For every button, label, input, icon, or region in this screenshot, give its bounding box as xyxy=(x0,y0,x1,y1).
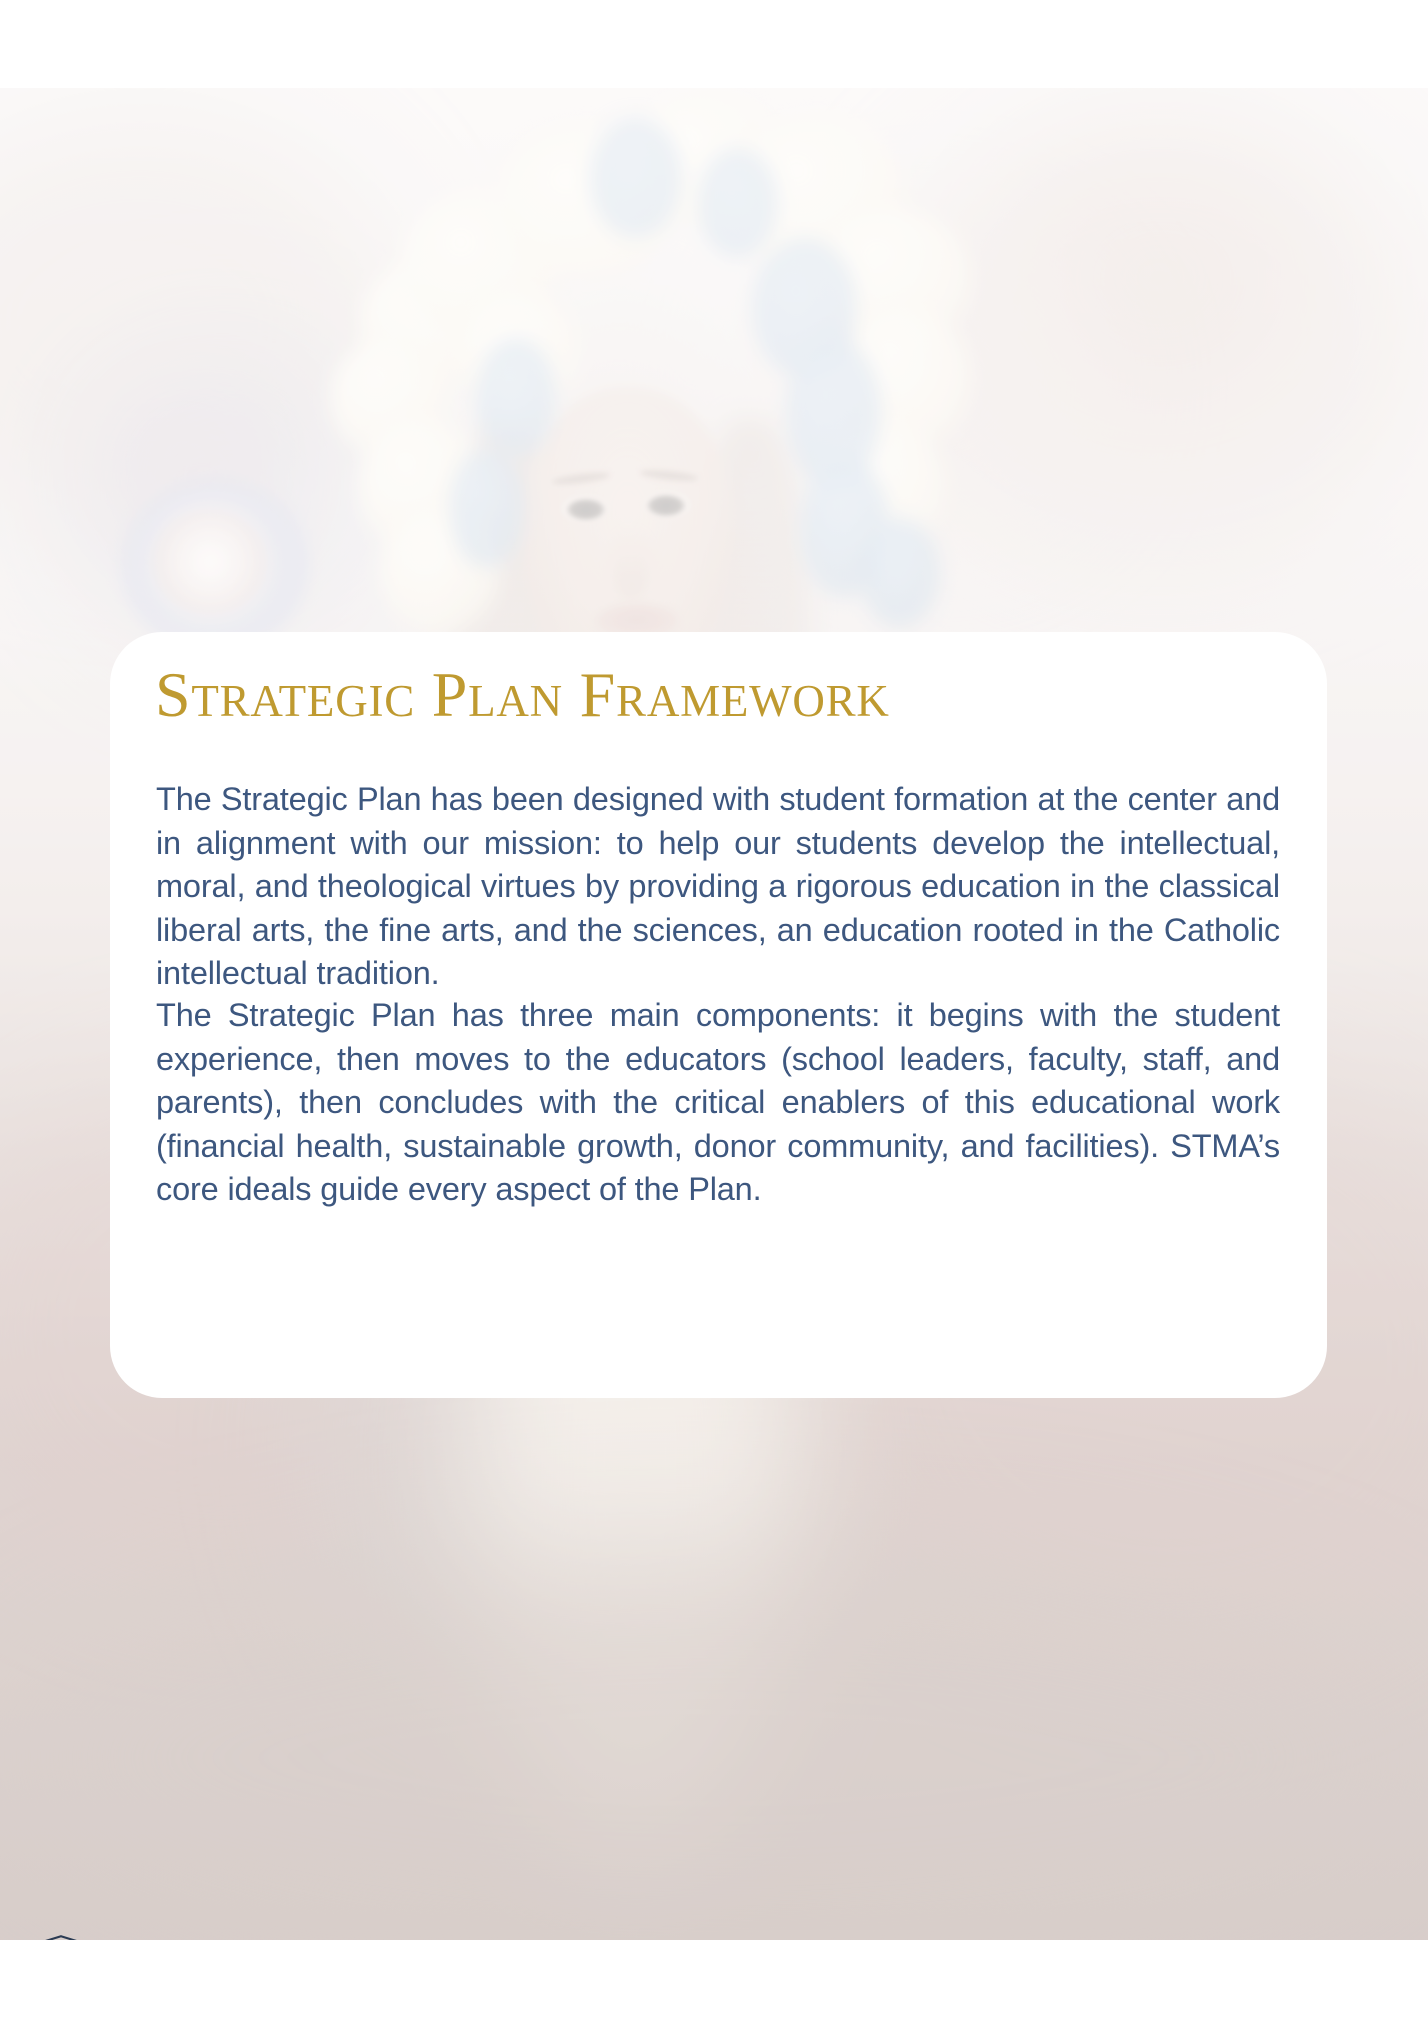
body-paragraph-1: The Strategic Plan has been designed wit… xyxy=(156,778,1280,996)
document-page: 6 Strategic Plan Framework The Strategic… xyxy=(0,0,1428,2028)
stma-shield-logo-icon xyxy=(38,1934,84,1940)
body-paragraph-2: The Strategic Plan has three main compon… xyxy=(156,994,1280,1212)
page-footer: 6 xyxy=(38,1930,136,1940)
content-card: Strategic Plan Framework The Strategic P… xyxy=(110,632,1327,1398)
page-title: Strategic Plan Framework xyxy=(155,662,1285,727)
